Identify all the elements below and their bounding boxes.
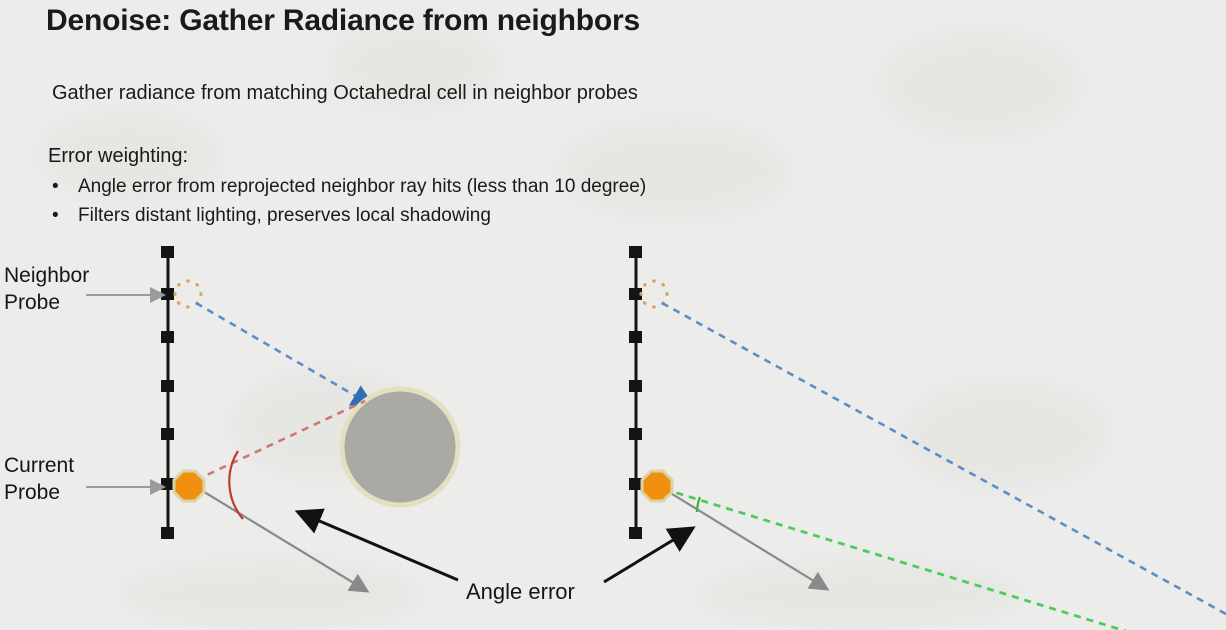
occluder-sphere	[342, 389, 458, 505]
angle-error-callout-right	[604, 531, 688, 582]
left-panel	[86, 246, 458, 588]
slide-root: Denoise: Gather Radiance from neighbors …	[0, 0, 1226, 620]
probe-diagram	[0, 0, 1226, 620]
current-probe-marker-right	[642, 471, 672, 501]
view-ray-left	[196, 487, 362, 588]
angle-error-callout-left	[303, 514, 458, 580]
neighbor-ray-left	[196, 303, 366, 402]
reprojected-ray-left	[196, 401, 365, 480]
current-ray-right	[664, 489, 1226, 630]
right-panel	[629, 246, 1226, 630]
neighbor-ray-right	[662, 303, 1226, 614]
current-probe-marker-left	[174, 471, 204, 501]
view-ray-right	[664, 489, 822, 586]
